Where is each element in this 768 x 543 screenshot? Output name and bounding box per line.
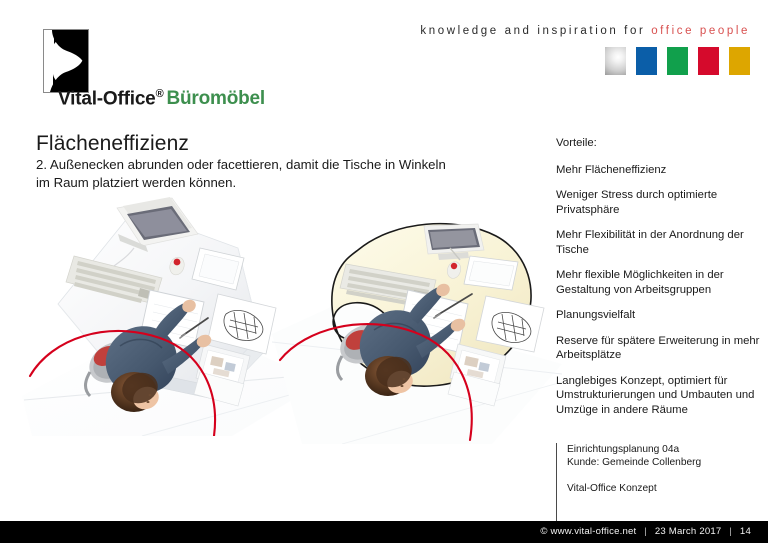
- brand-name: Vital-Office: [58, 88, 156, 109]
- brand-color-swatches: [605, 47, 750, 75]
- brand-logo[interactable]: Vital-Office®Büromöbel: [43, 29, 89, 93]
- swatch-red: [698, 47, 719, 75]
- brand-wordmark: Vital-Office®Büromöbel: [58, 89, 265, 108]
- swatch-silver: [605, 47, 626, 75]
- project-info: Einrichtungsplanung 04a Kunde: Gemeinde …: [556, 443, 761, 521]
- benefit-item: Weniger Stress durch optimierte Privatsp…: [556, 188, 761, 217]
- header-tagline: knowledge and inspiration for office peo…: [420, 25, 750, 37]
- page-title: Flächeneffizienz: [36, 132, 189, 156]
- brand-subtitle: Büromöbel: [166, 88, 264, 109]
- footer-date: 23 March 2017: [655, 526, 722, 537]
- tagline-main: knowledge and inspiration for: [420, 25, 645, 37]
- footer-bar: © www.vital-office.net | 23 March 2017 |…: [0, 521, 768, 543]
- footer-meta: © www.vital-office.net | 23 March 2017 |…: [540, 526, 751, 537]
- benefit-item: Mehr Flächeneffizienz: [556, 163, 761, 178]
- project-customer: Kunde: Gemeinde Collenberg: [567, 456, 761, 469]
- benefit-item: Reserve für spätere Erweiterung in mehr …: [556, 334, 761, 363]
- benefits-list: Vorteile: Mehr Flächeneffizienz Weniger …: [556, 136, 761, 428]
- copyright-symbol: ©: [540, 526, 547, 537]
- footer-page-number: 14: [740, 526, 751, 537]
- benefits-title: Vorteile:: [556, 136, 761, 151]
- tagline-accent: office people: [651, 25, 750, 37]
- footer-separator-1: |: [639, 526, 652, 537]
- benefit-item: Mehr flexible Möglichkeiten in der Gesta…: [556, 268, 761, 297]
- benefit-item: Mehr Flexibilität in der Anordnung der T…: [556, 228, 761, 257]
- project-plan: Einrichtungsplanung 04a: [567, 443, 761, 456]
- project-spacer: [567, 469, 761, 482]
- registered-mark: ®: [156, 88, 164, 100]
- swatch-green: [667, 47, 688, 75]
- swatch-gold: [729, 47, 750, 75]
- footer-website[interactable]: www.vital-office.net: [550, 526, 636, 537]
- benefit-item: Langlebiges Konzept, optimiert für Umstr…: [556, 374, 761, 418]
- vital-office-yin-yang-icon: [43, 29, 89, 93]
- swatch-blue: [636, 47, 657, 75]
- footer-separator-2: |: [724, 526, 737, 537]
- figure-rounded-desk: [272, 214, 562, 444]
- project-concept: Vital-Office Konzept: [567, 482, 761, 495]
- benefit-item: Planungsvielfalt: [556, 308, 761, 323]
- slide-canvas: Vital-Office®Büromöbel knowledge and ins…: [0, 0, 768, 543]
